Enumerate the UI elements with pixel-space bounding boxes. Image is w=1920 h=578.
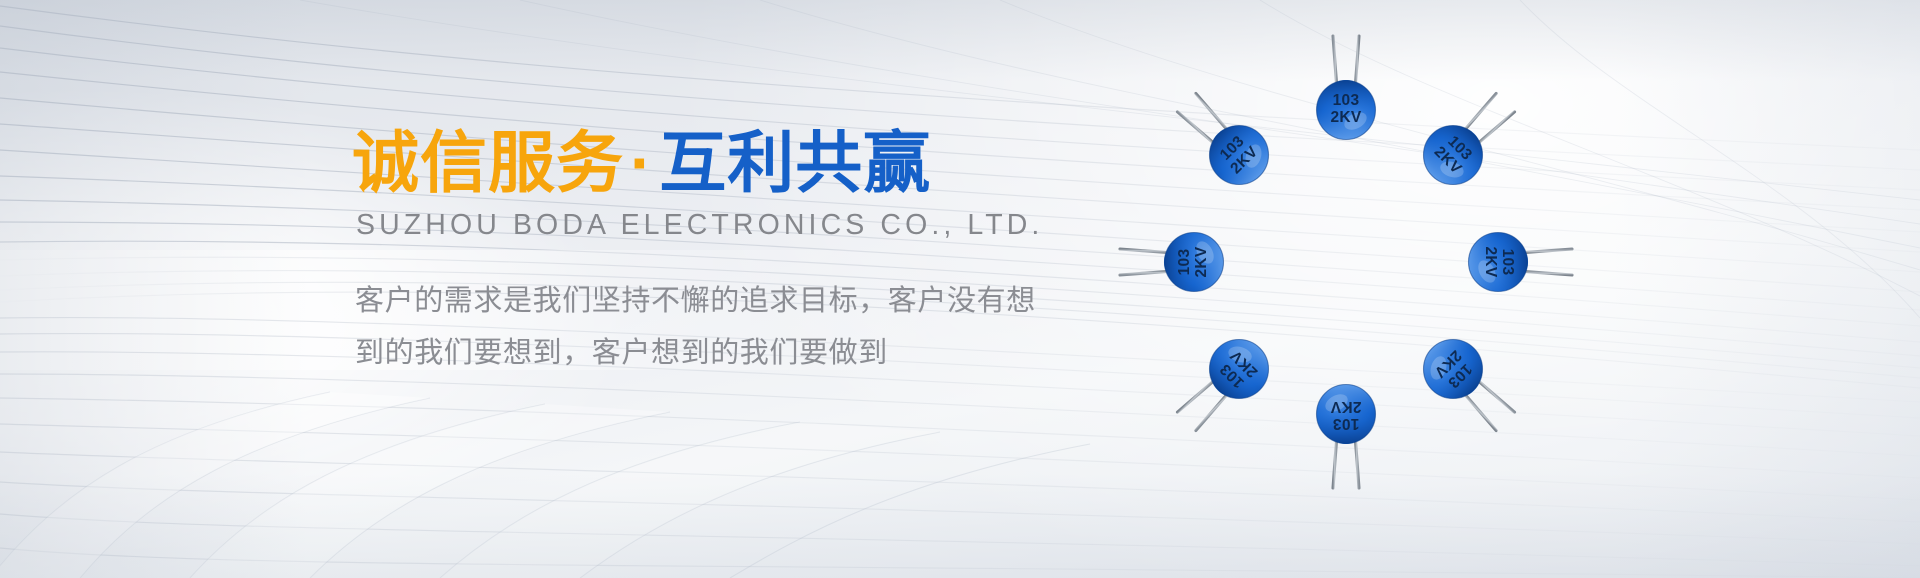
description-line-2: 到的我们要想到，客户想到的我们要做到 bbox=[355, 328, 1172, 380]
description-line-1: 客户的需求是我们坚持不懈的追求目标，客户没有想 bbox=[355, 276, 1172, 328]
capacitor-marking-top: 103 bbox=[1499, 249, 1516, 276]
capacitor-marking-top: 103 bbox=[1333, 415, 1360, 432]
capacitor-nw: 103 2KV bbox=[1166, 82, 1281, 197]
capacitor-w: 103 2KV bbox=[1120, 233, 1224, 292]
capacitor-ring-graphic: 103 2KV 103 2KV 103 2KV bbox=[1136, 52, 1556, 452]
headline-blue-part: 互利共赢 bbox=[659, 126, 931, 201]
promo-banner: 诚信服务·互利共赢 SUZHOU BODA ELECTRONICS CO., L… bbox=[0, 0, 1920, 578]
capacitor-marking-top: 103 bbox=[1176, 249, 1193, 276]
headline-separator-dot: · bbox=[624, 126, 659, 201]
capacitor-marking-bottom: 2KV bbox=[1482, 246, 1499, 277]
capacitor-n: 103 2KV bbox=[1317, 36, 1376, 140]
capacitor-sw: 103 2KV bbox=[1166, 327, 1281, 442]
headline-orange-part: 诚信服务 bbox=[352, 126, 624, 201]
capacitor-marking-top: 103 bbox=[1333, 92, 1360, 109]
capacitor-marking-bottom: 2KV bbox=[1330, 398, 1361, 415]
capacitor-se: 103 2KV bbox=[1411, 327, 1526, 442]
capacitor-marking-bottom: 2KV bbox=[1193, 246, 1210, 277]
page-title: 诚信服务·互利共赢 bbox=[352, 128, 1172, 200]
banner-text-block: 诚信服务·互利共赢 SUZHOU BODA ELECTRONICS CO., L… bbox=[352, 128, 1172, 380]
capacitor-ne: 103 2KV bbox=[1411, 82, 1526, 197]
product-image-capacitor-cluster: 103 2KV 103 2KV 103 2KV bbox=[1136, 52, 1556, 452]
company-name-english: SUZHOU BODA ELECTRONICS CO., LTD. bbox=[356, 209, 1172, 242]
banner-description: 客户的需求是我们坚持不懈的追求目标，客户没有想 到的我们要想到，客户想到的我们要… bbox=[355, 276, 1172, 379]
capacitor-marking-bottom: 2KV bbox=[1330, 109, 1361, 126]
